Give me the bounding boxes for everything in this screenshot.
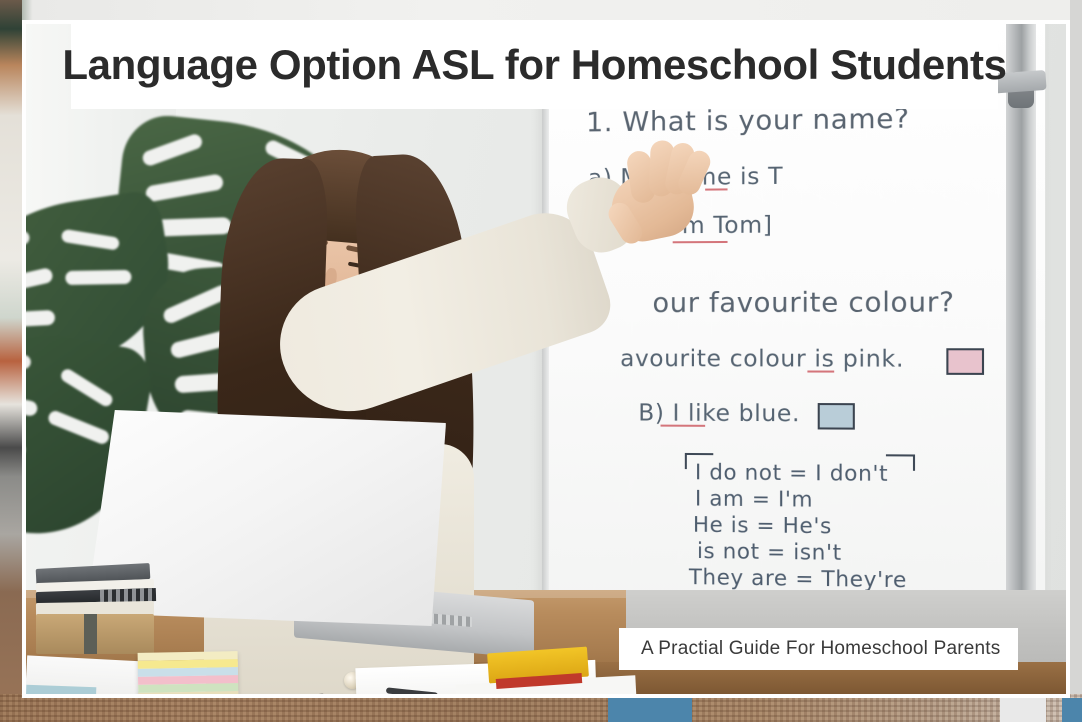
whiteboard-red-underline [807,370,834,372]
whiteboard-line-2-question: our favourite colour? [652,287,954,319]
backdrop-left-strip [0,0,22,722]
elastic-band [84,614,97,654]
image-canvas: 1. What is your name? a) My name is T b)… [0,0,1082,722]
color-swatch-pink [946,348,984,375]
whiteboard-frame-right [1006,24,1036,680]
bracket-top-right [886,454,915,471]
page-subtitle: A Practial Guide For Homeschool Parents [619,638,1000,660]
notebook-stack [36,566,154,662]
sticky-note-stack [138,651,239,694]
contraction-item: He is = He's [693,512,832,542]
whiteboard-red-underline [673,241,728,243]
whiteboard-line-2-answer-a: avourite colour is pink. [620,346,904,373]
backdrop-blue-patch-2 [1062,698,1082,722]
subtitle-banner: A Practial Guide For Homeschool Parents [619,628,1018,670]
contraction-item: is not = isn't [697,538,842,568]
backdrop-bottom-carpet [0,694,1082,722]
color-swatch-blue [818,403,855,430]
whiteboard-line-2-answer-b: B) I like blue. [638,400,800,427]
backdrop-right-strip [1070,0,1082,722]
photo-frame: 1. What is your name? a) My name is T b)… [22,20,1070,698]
whiteboard-red-underline [661,425,706,427]
whiteboard: 1. What is your name? a) My name is T b)… [542,24,1045,665]
contraction-item: I do not = I don't [695,459,888,489]
backdrop-top [0,0,1082,20]
page-title: Language Option ASL for Homeschool Stude… [62,41,1006,89]
backdrop-blue-patch-1 [608,698,692,722]
contraction-item: I am = I'm [695,485,813,514]
title-banner: Language Option ASL for Homeschool Stude… [71,21,998,109]
backdrop-bottom-white [1000,694,1046,722]
photo: 1. What is your name? a) My name is T b)… [26,24,1066,694]
desk-object-teal [26,685,96,694]
